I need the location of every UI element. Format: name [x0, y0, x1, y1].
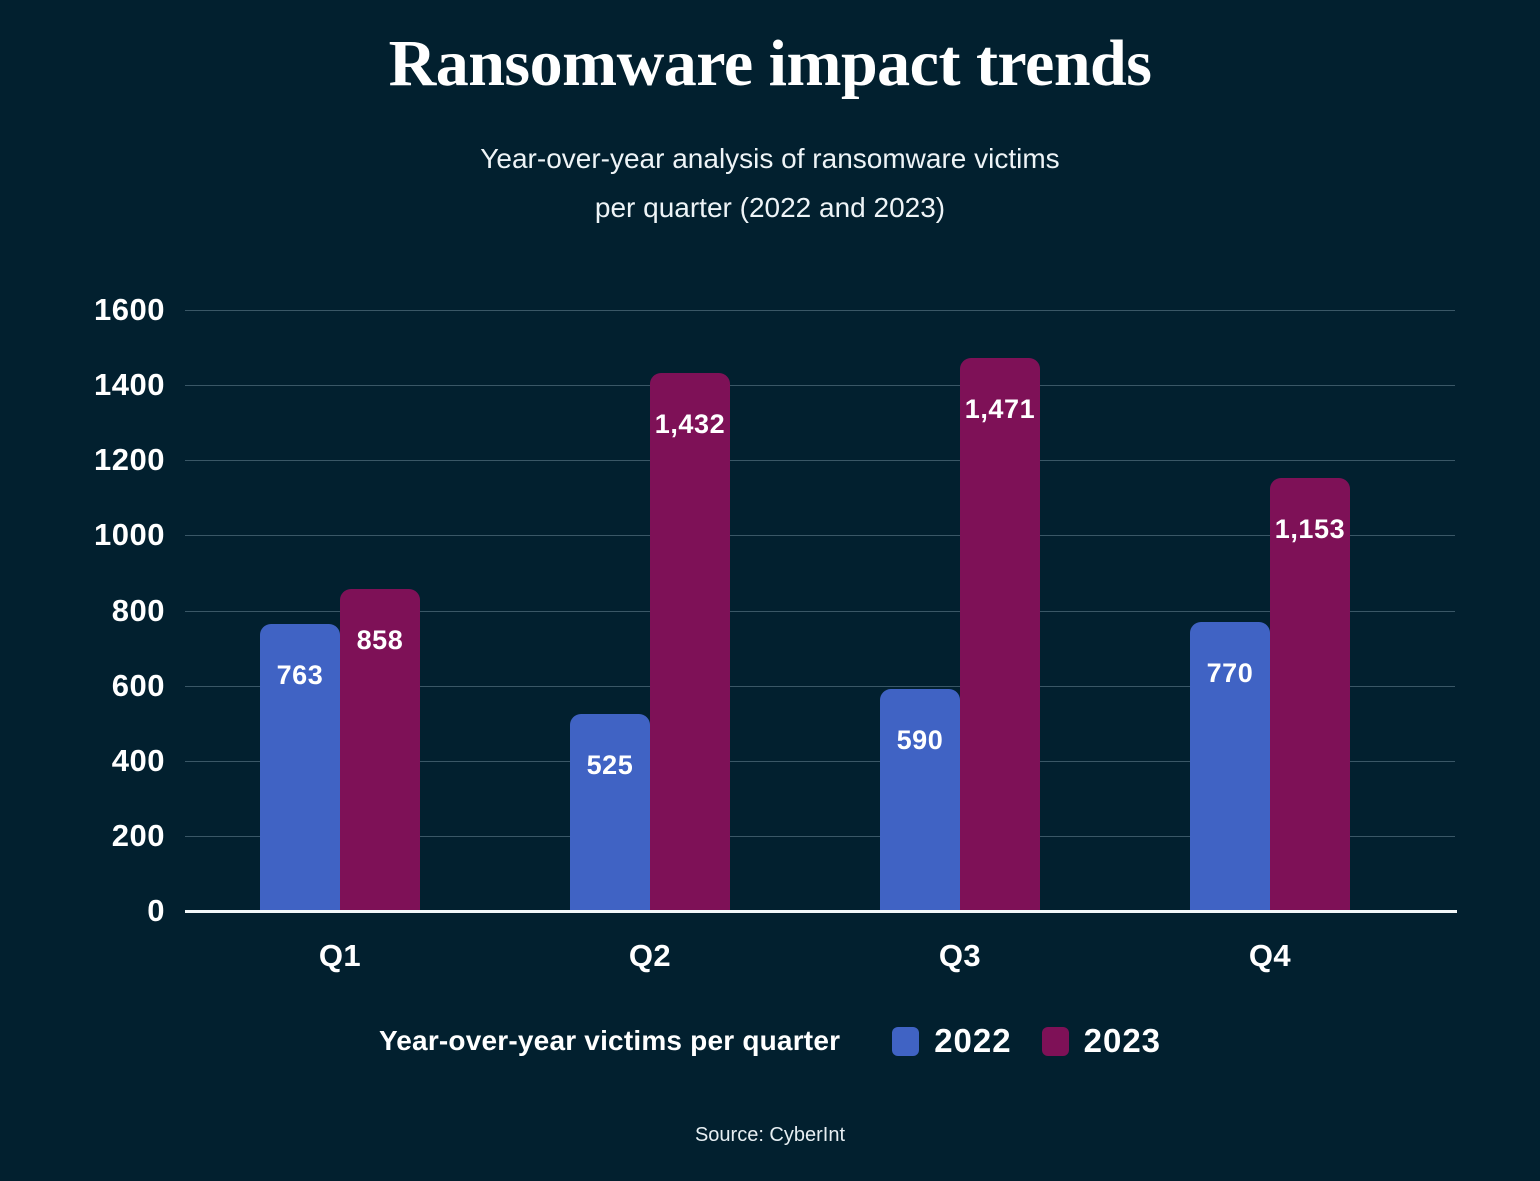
- bar-value-label: 1,432: [650, 409, 730, 440]
- plot-area: 7638585251,4325901,4717701,153: [185, 310, 1455, 911]
- y-axis-tick-label: 400: [45, 743, 165, 779]
- bar-value-label: 525: [570, 750, 650, 781]
- y-axis: 02004006008001000120014001600: [25, 0, 165, 1181]
- chart-subtitle-line-2: per quarter (2022 and 2023): [0, 183, 1540, 232]
- page-title: Ransomware impact trends: [0, 28, 1540, 99]
- y-axis-tick-label: 1000: [45, 517, 165, 553]
- gridline: [185, 385, 1455, 386]
- source-note: Source: CyberInt: [0, 1124, 1540, 1147]
- chart-subtitle: Year-over-year analysis of ransomware vi…: [0, 134, 1540, 232]
- bar-q2-2023[interactable]: 1,432: [650, 373, 730, 911]
- x-axis-tick-label-q4: Q4: [1150, 938, 1390, 974]
- bar-q4-2022[interactable]: 770: [1190, 622, 1270, 911]
- y-axis-tick-label: 1400: [45, 367, 165, 403]
- x-axis-tick-label-q2: Q2: [530, 938, 770, 974]
- legend-item-2022[interactable]: 2022: [892, 1022, 1011, 1060]
- bar-value-label: 763: [260, 660, 340, 691]
- legend-swatch-icon: [1042, 1027, 1069, 1056]
- bar-q1-2023[interactable]: 858: [340, 589, 420, 911]
- legend-label: 2022: [934, 1022, 1011, 1060]
- legend-caption: Year-over-year victims per quarter: [379, 1025, 840, 1057]
- bar-value-label: 1,471: [960, 394, 1040, 425]
- gridline: [185, 310, 1455, 311]
- legend-swatch-icon: [892, 1027, 919, 1056]
- bar-q3-2023[interactable]: 1,471: [960, 358, 1040, 911]
- bar-value-label: 590: [880, 725, 960, 756]
- y-axis-tick-label: 1600: [45, 292, 165, 328]
- bar-q2-2022[interactable]: 525: [570, 714, 650, 911]
- bar-value-label: 858: [340, 625, 420, 656]
- chart-canvas: Ransomware impact trends Year-over-year …: [0, 0, 1540, 1181]
- y-axis-tick-label: 200: [45, 818, 165, 854]
- chart-legend: Year-over-year victims per quarter 20222…: [0, 1022, 1540, 1060]
- y-axis-tick-label: 1200: [45, 442, 165, 478]
- bar-value-label: 1,153: [1270, 514, 1350, 545]
- bar-q1-2022[interactable]: 763: [260, 624, 340, 911]
- y-axis-tick-label: 600: [45, 668, 165, 704]
- bar-q3-2022[interactable]: 590: [880, 689, 960, 911]
- gridline: [185, 460, 1455, 461]
- chart-subtitle-line-1: Year-over-year analysis of ransomware vi…: [0, 134, 1540, 183]
- bar-value-label: 770: [1190, 658, 1270, 689]
- x-axis-tick-label-q1: Q1: [220, 938, 460, 974]
- gridline: [185, 535, 1455, 536]
- x-axis-line: [185, 910, 1457, 913]
- legend-label: 2023: [1084, 1022, 1161, 1060]
- y-axis-tick-label: 0: [45, 893, 165, 929]
- legend-item-2023[interactable]: 2023: [1042, 1022, 1161, 1060]
- y-axis-tick-label: 800: [45, 593, 165, 629]
- x-axis-tick-label-q3: Q3: [840, 938, 1080, 974]
- bar-q4-2023[interactable]: 1,153: [1270, 478, 1350, 911]
